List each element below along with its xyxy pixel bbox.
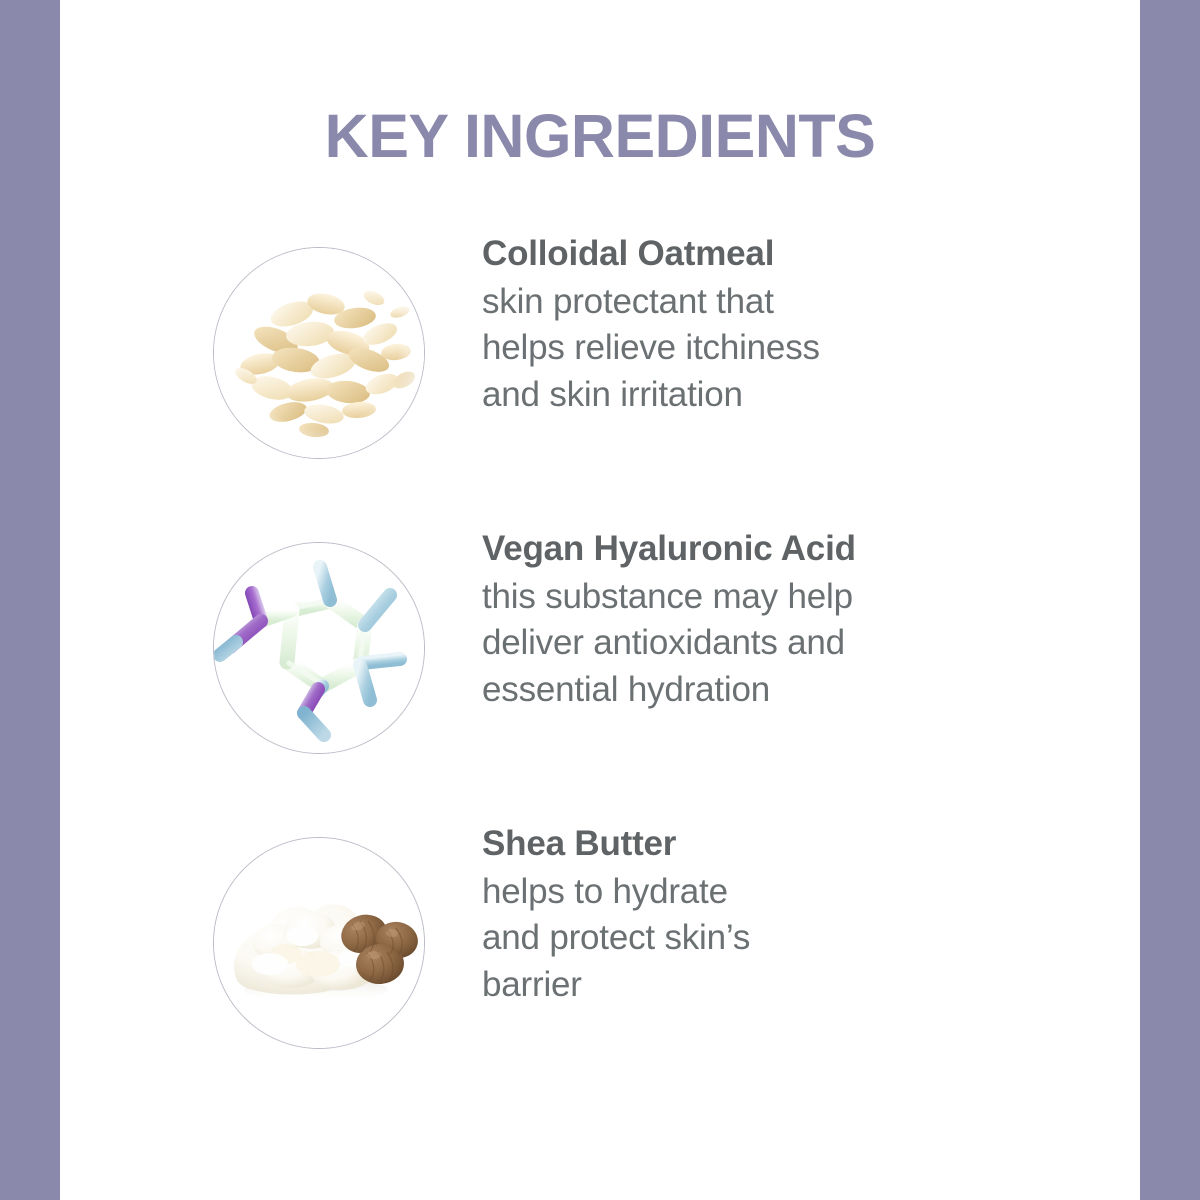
description-line: this substance may help: [482, 574, 1022, 621]
description-line: deliver antioxidants and: [482, 620, 1022, 667]
ingredient-name: Colloidal Oatmeal: [482, 235, 1022, 273]
description-line: essential hydration: [482, 667, 1022, 714]
ingredient-text: Colloidal Oatmeal skin protectant that h…: [482, 235, 1022, 418]
ingredient-name: Vegan Hyaluronic Acid: [482, 530, 1022, 568]
description-line: and protect skin’s: [482, 915, 1022, 962]
ingredient-name: Shea Butter: [482, 825, 1022, 863]
description-line: helps relieve itchiness: [482, 325, 1022, 372]
ingredient-row: Colloidal Oatmeal skin protectant that h…: [0, 235, 1200, 485]
ingredient-description: this substance may help deliver antioxid…: [482, 574, 1022, 714]
oatmeal-flakes-image: [213, 247, 425, 459]
shea-butter-and-nuts-image: [213, 837, 425, 1049]
ingredient-row: Vegan Hyaluronic Acid this substance may…: [0, 530, 1200, 780]
description-line: helps to hydrate: [482, 869, 1022, 916]
description-line: skin protectant that: [482, 279, 1022, 326]
description-line: barrier: [482, 962, 1022, 1009]
ingredient-description: skin protectant that helps relieve itchi…: [482, 279, 1022, 419]
ingredient-text: Vegan Hyaluronic Acid this substance may…: [482, 530, 1022, 713]
ingredient-text: Shea Butter helps to hydrate and protect…: [482, 825, 1022, 1008]
ingredient-row: Shea Butter helps to hydrate and protect…: [0, 825, 1200, 1075]
page-title: KEY INGREDIENTS: [60, 106, 1140, 167]
description-line: and skin irritation: [482, 372, 1022, 419]
molecule-structure-image: [213, 542, 425, 754]
ingredient-description: helps to hydrate and protect skin’s barr…: [482, 869, 1022, 1009]
key-ingredients-infographic: KEY INGREDIENTS: [0, 0, 1200, 1200]
